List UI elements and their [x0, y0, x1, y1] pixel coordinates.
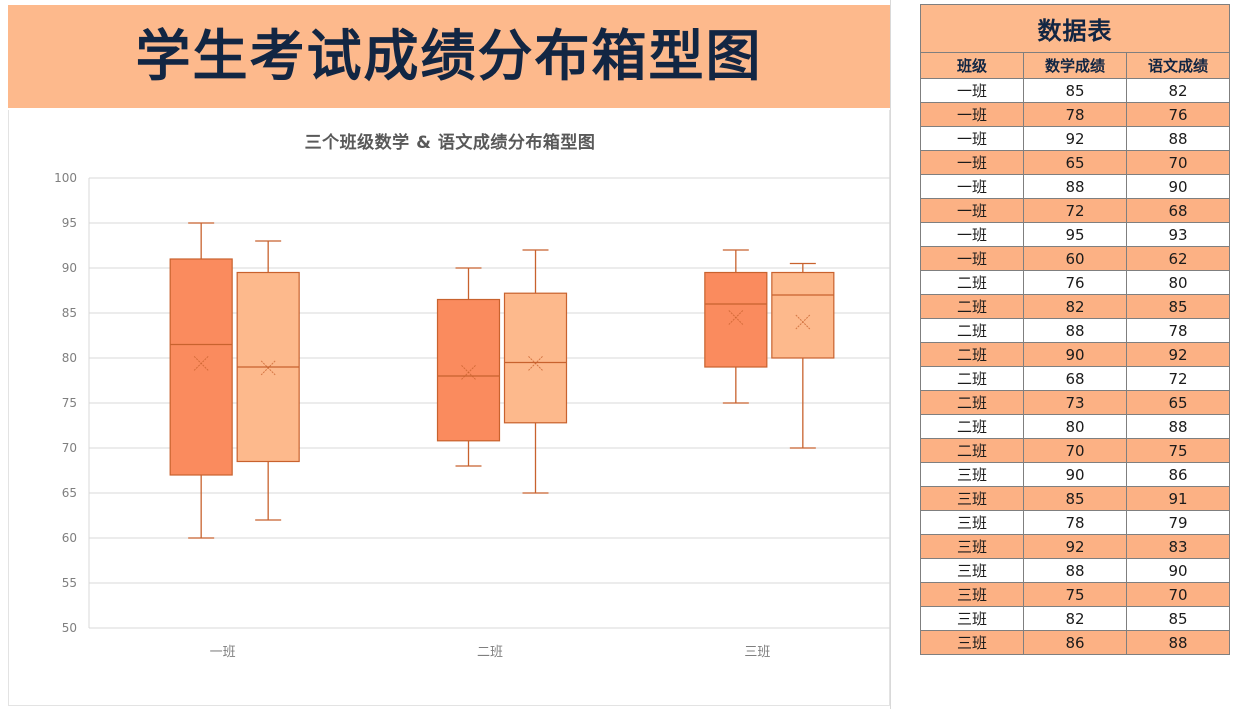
column-header-class[interactable]: 班级: [921, 53, 1024, 79]
cell-chinese: 80: [1127, 271, 1230, 295]
cell-chinese: 62: [1127, 247, 1230, 271]
cell-math: 60: [1024, 247, 1127, 271]
table-title-row: 数据表: [921, 5, 1230, 53]
cell-chinese: 85: [1127, 607, 1230, 631]
cell-math: 78: [1024, 103, 1127, 127]
cell-chinese: 76: [1127, 103, 1230, 127]
cell-math: 68: [1024, 367, 1127, 391]
cell-math: 86: [1024, 631, 1127, 655]
cell-chinese: 92: [1127, 343, 1230, 367]
boxplot-chart: 三个班级数学 & 语文成绩分布箱型图 100959085807570656055…: [8, 110, 890, 706]
table-title: 数据表: [921, 5, 1230, 53]
table-row[interactable]: 三班8591: [921, 487, 1230, 511]
cell-class: 三班: [921, 583, 1024, 607]
cell-class: 二班: [921, 271, 1024, 295]
table-row[interactable]: 三班7879: [921, 511, 1230, 535]
box: [438, 300, 500, 441]
cell-chinese: 90: [1127, 559, 1230, 583]
cell-chinese: 91: [1127, 487, 1230, 511]
cell-chinese: 90: [1127, 175, 1230, 199]
cell-math: 82: [1024, 607, 1127, 631]
table-row[interactable]: 一班7876: [921, 103, 1230, 127]
cell-chinese: 72: [1127, 367, 1230, 391]
y-axis-tick-label: 75: [62, 396, 77, 410]
cell-class: 三班: [921, 607, 1024, 631]
table-row[interactable]: 二班7075: [921, 439, 1230, 463]
cell-chinese: 65: [1127, 391, 1230, 415]
table-row[interactable]: 三班8285: [921, 607, 1230, 631]
table-row[interactable]: 二班9092: [921, 343, 1230, 367]
cell-math: 90: [1024, 463, 1127, 487]
y-axis-tick-label: 95: [62, 216, 77, 230]
cell-class: 一班: [921, 223, 1024, 247]
box: [772, 273, 834, 359]
cell-math: 88: [1024, 175, 1127, 199]
cell-math: 90: [1024, 343, 1127, 367]
table-row[interactable]: 三班7570: [921, 583, 1230, 607]
cell-class: 一班: [921, 247, 1024, 271]
cell-math: 88: [1024, 559, 1127, 583]
cell-class: 一班: [921, 151, 1024, 175]
cell-chinese: 88: [1127, 631, 1230, 655]
cell-math: 92: [1024, 535, 1127, 559]
boxplot-math-一班[interactable]: [170, 223, 232, 538]
y-axis-tick-label: 55: [62, 576, 77, 590]
column-header-math[interactable]: 数学成绩: [1024, 53, 1127, 79]
cell-chinese: 93: [1127, 223, 1230, 247]
cell-class: 一班: [921, 103, 1024, 127]
table-row[interactable]: 一班9593: [921, 223, 1230, 247]
page-title: 学生考试成绩分布箱型图: [135, 29, 762, 84]
cell-class: 三班: [921, 463, 1024, 487]
cell-class: 二班: [921, 415, 1024, 439]
table-row[interactable]: 二班8088: [921, 415, 1230, 439]
cell-math: 65: [1024, 151, 1127, 175]
cell-chinese: 88: [1127, 127, 1230, 151]
cell-class: 二班: [921, 295, 1024, 319]
y-axis-tick-label: 100: [54, 171, 77, 185]
cell-math: 80: [1024, 415, 1127, 439]
y-axis-tick-label: 70: [62, 441, 77, 455]
cell-class: 一班: [921, 199, 1024, 223]
cell-chinese: 82: [1127, 79, 1230, 103]
cell-chinese: 75: [1127, 439, 1230, 463]
data-table-pane: 数据表 班级 数学成绩 语文成绩 一班8582一班7876一班9288一班657…: [892, 0, 1251, 709]
cell-class: 二班: [921, 319, 1024, 343]
cell-class: 三班: [921, 511, 1024, 535]
cell-math: 76: [1024, 271, 1127, 295]
chart-pane: 学生考试成绩分布箱型图 三个班级数学 & 语文成绩分布箱型图 100959085…: [0, 0, 891, 709]
cell-class: 一班: [921, 127, 1024, 151]
cell-class: 三班: [921, 535, 1024, 559]
table-row[interactable]: 二班8285: [921, 295, 1230, 319]
table-row[interactable]: 一班9288: [921, 127, 1230, 151]
cell-math: 88: [1024, 319, 1127, 343]
table-row[interactable]: 二班8878: [921, 319, 1230, 343]
cell-chinese: 70: [1127, 151, 1230, 175]
table-row[interactable]: 一班8582: [921, 79, 1230, 103]
table-row[interactable]: 一班6570: [921, 151, 1230, 175]
cell-class: 一班: [921, 175, 1024, 199]
y-axis-tick-label: 50: [62, 621, 77, 635]
boxplot-math-三班[interactable]: [705, 250, 767, 403]
y-axis-tick-label: 60: [62, 531, 77, 545]
x-axis-tick-label: 三班: [744, 645, 770, 660]
table-row[interactable]: 一班6062: [921, 247, 1230, 271]
cell-chinese: 85: [1127, 295, 1230, 319]
cell-class: 二班: [921, 343, 1024, 367]
cell-math: 70: [1024, 439, 1127, 463]
cell-math: 92: [1024, 127, 1127, 151]
app-root: 学生考试成绩分布箱型图 三个班级数学 & 语文成绩分布箱型图 100959085…: [0, 0, 1251, 709]
cell-class: 三班: [921, 487, 1024, 511]
table-row[interactable]: 三班9283: [921, 535, 1230, 559]
cell-class: 二班: [921, 391, 1024, 415]
cell-math: 85: [1024, 79, 1127, 103]
y-axis-tick-label: 80: [62, 351, 77, 365]
boxplot-chinese-三班[interactable]: [772, 264, 834, 449]
box: [705, 273, 767, 368]
cell-math: 75: [1024, 583, 1127, 607]
cell-math: 95: [1024, 223, 1127, 247]
table-row[interactable]: 三班8688: [921, 631, 1230, 655]
y-axis-tick-label: 90: [62, 261, 77, 275]
cell-class: 三班: [921, 631, 1024, 655]
table-row[interactable]: 三班9086: [921, 463, 1230, 487]
cell-class: 三班: [921, 559, 1024, 583]
table-row[interactable]: 一班7268: [921, 199, 1230, 223]
cell-chinese: 78: [1127, 319, 1230, 343]
data-table: 数据表 班级 数学成绩 语文成绩 一班8582一班7876一班9288一班657…: [920, 4, 1230, 655]
cell-math: 78: [1024, 511, 1127, 535]
table-row[interactable]: 二班6872: [921, 367, 1230, 391]
cell-chinese: 86: [1127, 463, 1230, 487]
page-title-banner: 学生考试成绩分布箱型图: [8, 5, 890, 108]
cell-chinese: 88: [1127, 415, 1230, 439]
cell-math: 72: [1024, 199, 1127, 223]
table-row[interactable]: 三班8890: [921, 559, 1230, 583]
cell-math: 73: [1024, 391, 1127, 415]
cell-class: 一班: [921, 79, 1024, 103]
data-table-wrap: 数据表 班级 数学成绩 语文成绩 一班8582一班7876一班9288一班657…: [920, 4, 1230, 655]
y-axis-tick-label: 65: [62, 486, 77, 500]
table-header-row: 班级 数学成绩 语文成绩: [921, 53, 1230, 79]
x-axis-tick-label: 一班: [210, 645, 236, 660]
table-row[interactable]: 一班8890: [921, 175, 1230, 199]
table-row[interactable]: 二班7680: [921, 271, 1230, 295]
table-body: 一班8582一班7876一班9288一班6570一班8890一班7268一班95…: [921, 79, 1230, 655]
cell-math: 82: [1024, 295, 1127, 319]
boxplot-math-二班[interactable]: [438, 268, 500, 466]
x-axis-tick-label: 二班: [477, 645, 503, 660]
cell-class: 二班: [921, 439, 1024, 463]
cell-chinese: 70: [1127, 583, 1230, 607]
cell-chinese: 68: [1127, 199, 1230, 223]
boxplot-chinese-二班[interactable]: [505, 250, 567, 493]
boxplot-chinese-一班[interactable]: [237, 241, 299, 520]
cell-chinese: 83: [1127, 535, 1230, 559]
cell-chinese: 79: [1127, 511, 1230, 535]
cell-math: 85: [1024, 487, 1127, 511]
box: [505, 293, 567, 423]
cell-class: 二班: [921, 367, 1024, 391]
y-axis-tick-label: 85: [62, 306, 77, 320]
box: [170, 259, 232, 475]
column-header-chinese[interactable]: 语文成绩: [1127, 53, 1230, 79]
table-row[interactable]: 二班7365: [921, 391, 1230, 415]
boxplot-svg: 10095908580757065605550一班二班三班: [9, 110, 891, 706]
